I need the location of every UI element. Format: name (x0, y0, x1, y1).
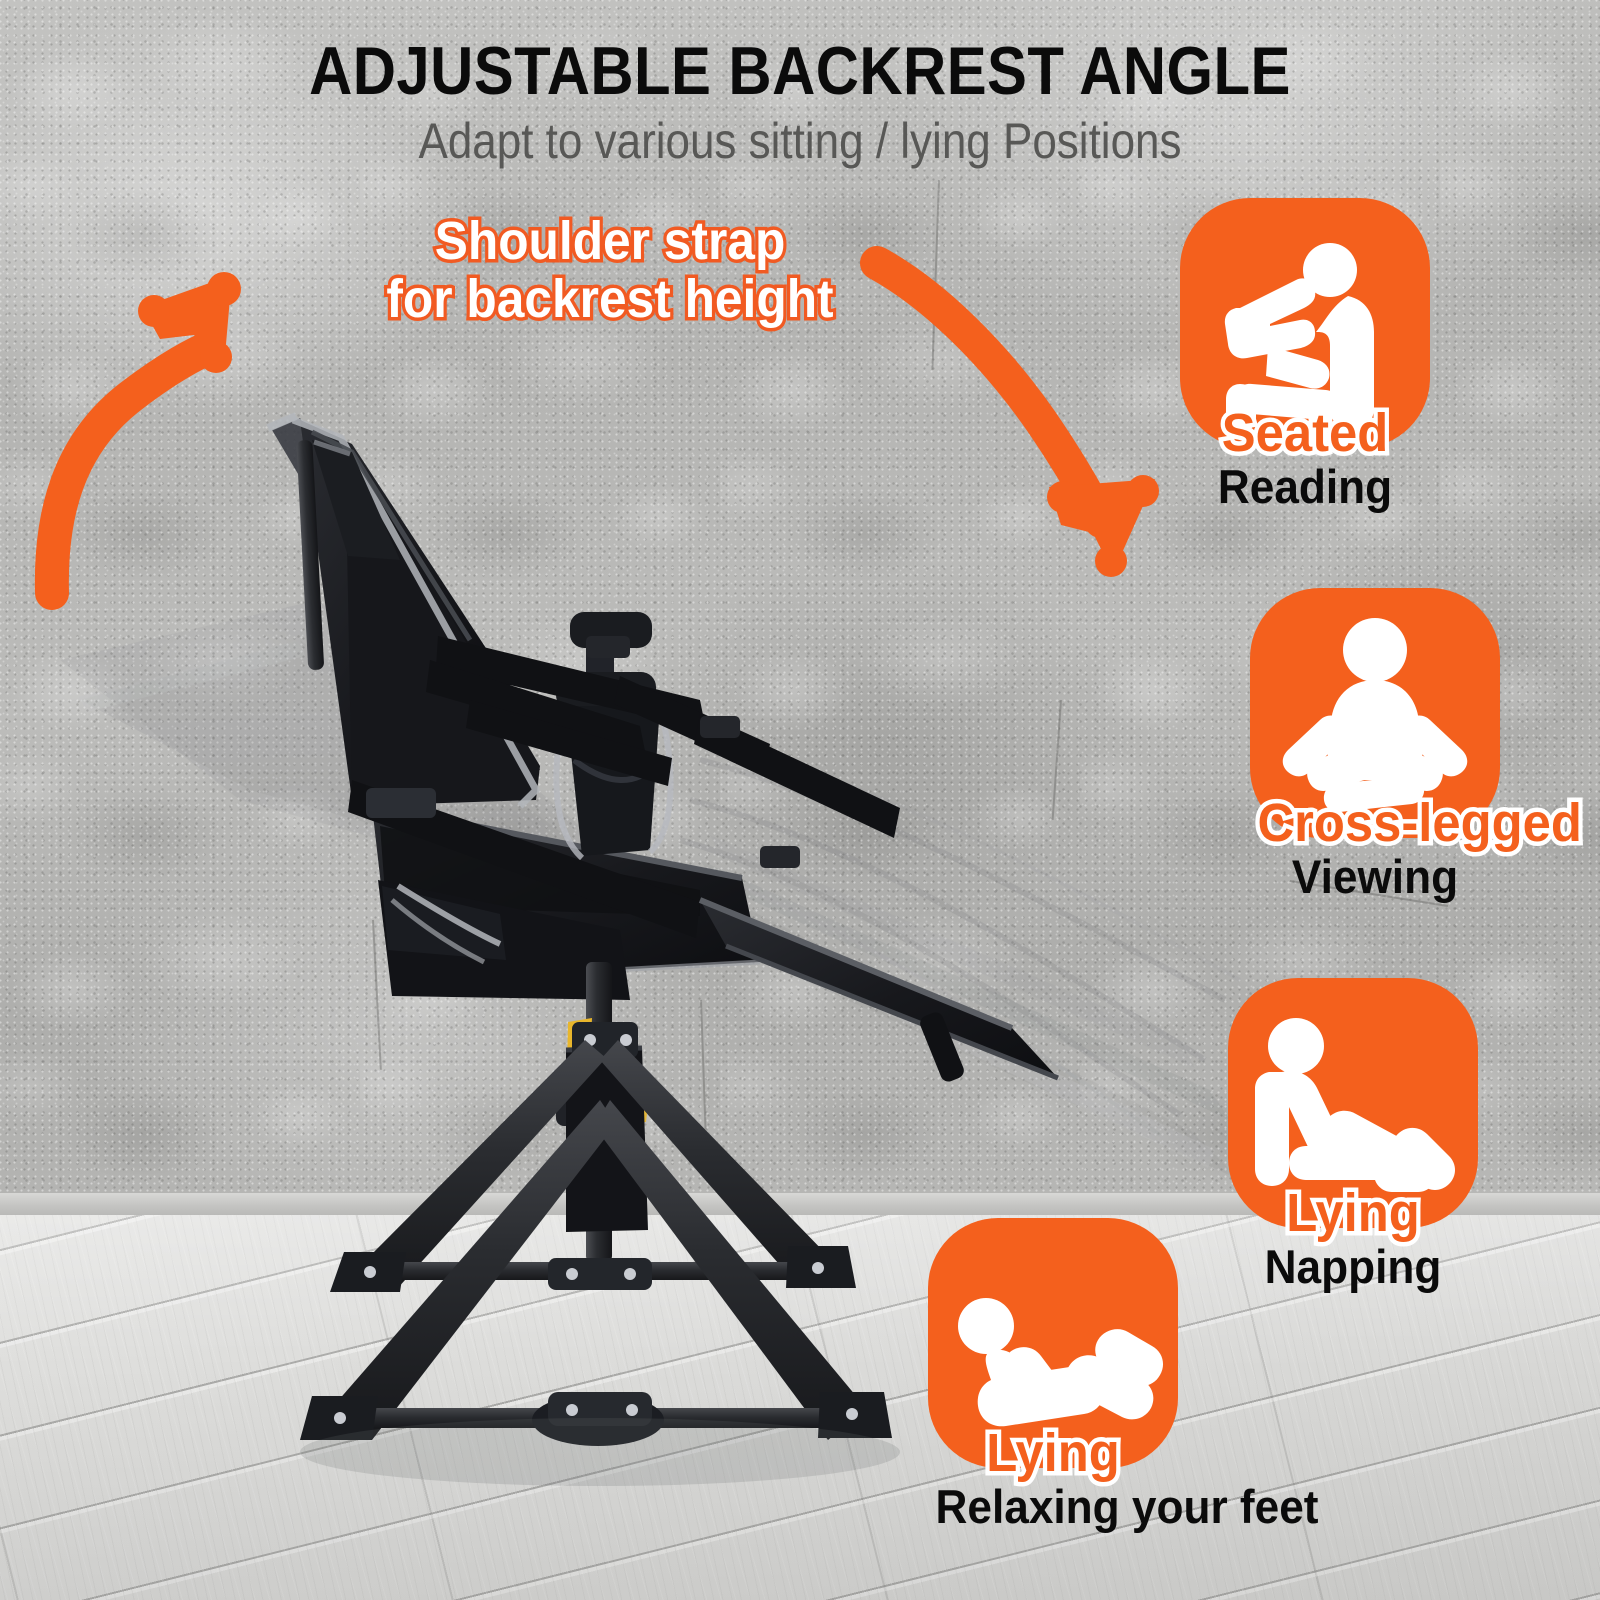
page-subtitle: Adapt to various sitting / lying Positio… (96, 112, 1504, 170)
seated-caption: Seated Reading (1180, 406, 1430, 511)
callout-line-2: for backrest height (325, 270, 895, 328)
cross-legged-caption: Cross-legged Viewing (1250, 796, 1500, 901)
seated-title: Seated (1188, 406, 1423, 460)
cross-legged-subtitle: Viewing (1258, 852, 1493, 901)
lying-napping-title: Lying (1236, 1186, 1471, 1240)
lying-relaxing-title: Lying (936, 1426, 1171, 1480)
page-title: ADJUSTABLE BACKREST ANGLE (96, 32, 1504, 110)
feature-cross-legged-viewing[interactable]: Cross-legged Viewing (1250, 588, 1500, 901)
cross-legged-title: Cross-legged (1258, 796, 1493, 850)
feature-lying-relaxing[interactable]: Lying Relaxing your feet (928, 1218, 1178, 1531)
callout-line-1: Shoulder strap (325, 212, 895, 270)
lying-napping-caption: Lying Napping (1228, 1186, 1478, 1291)
infographic-canvas: ADJUSTABLE BACKREST ANGLE Adapt to vario… (0, 0, 1600, 1600)
seated-subtitle: Reading (1188, 462, 1423, 511)
shoulder-strap-callout: Shoulder strap for backrest height (325, 212, 895, 329)
feature-seated-reading[interactable]: Seated Reading (1180, 198, 1430, 511)
lying-napping-subtitle: Napping (1236, 1242, 1471, 1291)
lying-relaxing-subtitle: Relaxing your feet (936, 1482, 1171, 1531)
feature-lying-napping[interactable]: Lying Napping (1228, 978, 1478, 1291)
lying-relaxing-caption: Lying Relaxing your feet (928, 1426, 1178, 1531)
